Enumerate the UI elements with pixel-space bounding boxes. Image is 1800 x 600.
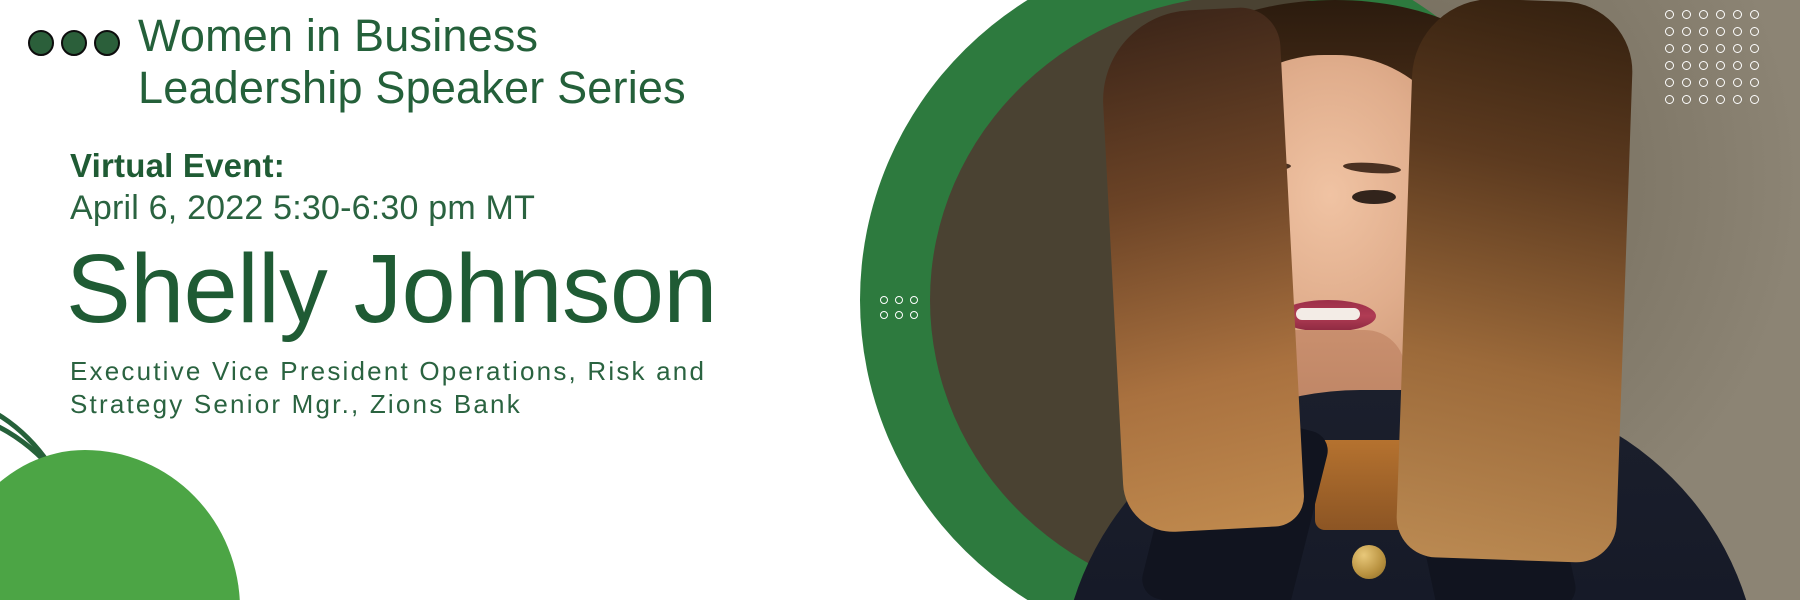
banner-content: Women in Business Leadership Speaker Ser…: [0, 0, 900, 600]
speaker-portrait-image: [860, 0, 1800, 600]
logo-dot: [61, 30, 87, 56]
portrait-hair-left: [1099, 6, 1306, 535]
three-dots-logo-icon: [28, 30, 120, 56]
portrait-teeth: [1296, 308, 1360, 320]
series-title: Women in Business Leadership Speaker Ser…: [138, 10, 686, 114]
event-label: Virtual Event:: [70, 147, 285, 185]
logo-dot: [94, 30, 120, 56]
portrait-jacket-button: [1352, 545, 1386, 579]
series-header: Women in Business Leadership Speaker Ser…: [28, 10, 686, 114]
portrait-eye-right: [1352, 190, 1396, 204]
speaker-role: Executive Vice President Operations, Ris…: [70, 355, 900, 421]
logo-dot: [28, 30, 54, 56]
speaker-name: Shelly Johnson: [66, 236, 717, 342]
speaker-series-banner: Women in Business Leadership Speaker Ser…: [0, 0, 1800, 600]
portrait-hair-right: [1395, 0, 1634, 564]
speaker-photo-zone: [860, 0, 1800, 600]
event-date: April 6, 2022 5:30-6:30 pm MT: [70, 189, 535, 228]
